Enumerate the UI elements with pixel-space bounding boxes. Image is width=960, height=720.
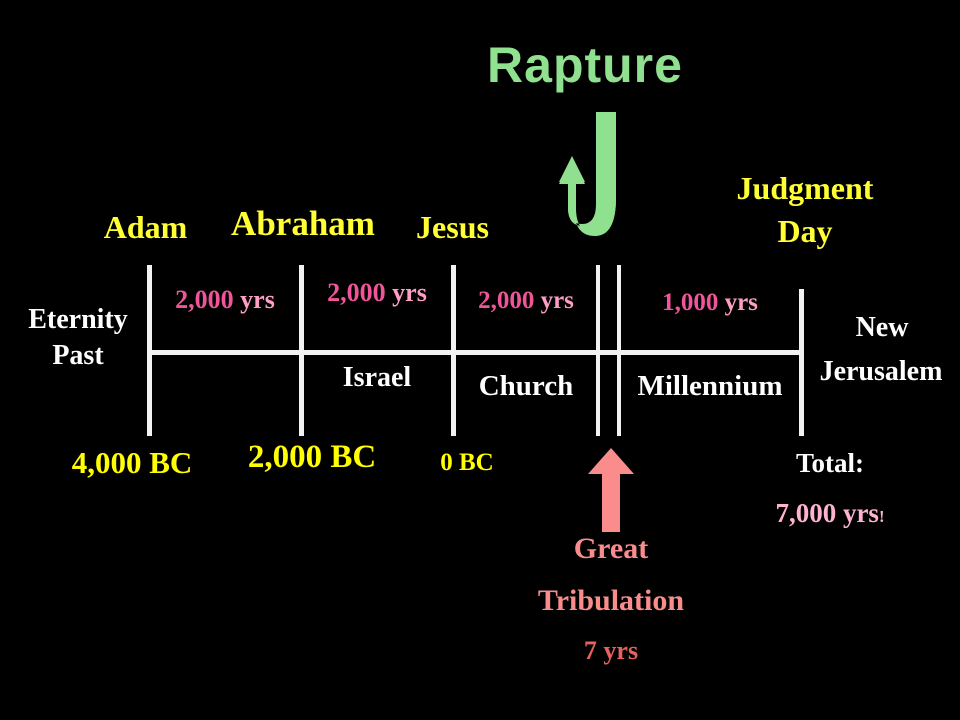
marker-label-judgment-day-line2: Day [690, 215, 920, 247]
marker-label-jesus: Jesus [390, 211, 515, 243]
duration-number-3: 2,000 [478, 287, 534, 314]
date-label-abraham: 2,000 BC [222, 441, 402, 474]
up-arrow-icon [586, 448, 636, 532]
marker-line-rapture [596, 265, 600, 436]
duration-number-1: 2,000 [175, 285, 234, 314]
duration-label-2: 2,000 yrs [304, 280, 450, 306]
marker-label-judgment-day-line1: Judgment [690, 172, 920, 204]
duration-number-2: 2,000 [327, 278, 386, 307]
era-label-millennium: Millennium [622, 371, 798, 401]
duration-label-3: 2,000 yrs [456, 288, 596, 313]
timeline-diagram: Rapture Adam Abraham Jesus Judgment Day … [0, 0, 960, 720]
timeline-axis [149, 350, 803, 355]
era-label-eternity-past-line1: Eternity [8, 305, 148, 334]
era-label-eternity-past-line2: Past [8, 341, 148, 370]
era-label-israel: Israel [304, 363, 450, 392]
duration-number-4: 1,000 [662, 289, 718, 316]
era-label-new-jerusalem-line1: New [806, 313, 958, 342]
duration-unit-1: yrs [240, 285, 275, 314]
duration-unit-4: yrs [725, 289, 758, 316]
tribulation-label-line2: Tribulation [491, 584, 731, 618]
hook-up-arrow-icon [552, 112, 642, 240]
duration-unit-2: yrs [392, 278, 427, 307]
marker-label-adam: Adam [78, 211, 213, 243]
duration-label-1: 2,000 yrs [152, 287, 298, 313]
era-label-new-jerusalem-line2: Jerusalem [802, 357, 960, 386]
date-label-jesus: 0 BC [412, 450, 522, 475]
total-value-exclaim: ! [879, 507, 885, 526]
marker-label-abraham: Abraham [208, 206, 398, 241]
tribulation-label-line1: Great [491, 532, 731, 566]
rapture-title: Rapture [455, 40, 715, 90]
duration-unit-3: yrs [541, 287, 574, 314]
total-value: 7,000 yrs! [730, 498, 930, 529]
date-label-adam: 4,000 BC [52, 447, 212, 478]
total-value-number: 7,000 yrs [775, 498, 879, 528]
tribulation-years: 7 yrs [511, 636, 711, 666]
total-label: Total: [740, 448, 920, 479]
era-label-church: Church [456, 371, 596, 401]
marker-line-tribulation-end [617, 265, 621, 436]
duration-label-4: 1,000 yrs [625, 290, 795, 315]
